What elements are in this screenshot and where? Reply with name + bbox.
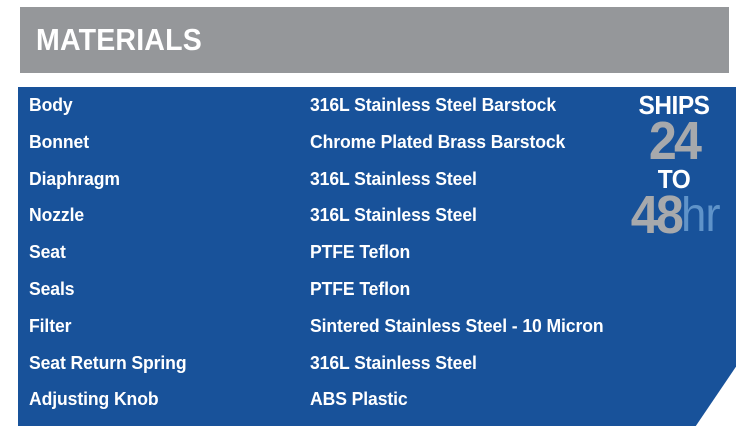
material-value-label: ABS Plastic (310, 381, 408, 418)
material-component-label: Diaphragm (29, 161, 120, 198)
material-value-label: 316L Stainless Steel (310, 161, 477, 198)
material-component-label: Seat Return Spring (29, 345, 186, 382)
page-title: MATERIALS (36, 17, 202, 63)
table-row: SealsPTFE Teflon (18, 271, 736, 308)
material-component-label: Body (29, 87, 73, 124)
table-row: Diaphragm316L Stainless Steel (18, 161, 736, 198)
material-component-label: Filter (29, 308, 71, 345)
table-row: Body316L Stainless Steel Barstock (18, 87, 736, 124)
material-component-label: Nozzle (29, 197, 84, 234)
table-row: Nozzle316L Stainless Steel (18, 197, 736, 234)
material-value-label: 316L Stainless Steel (310, 345, 477, 382)
table-row: Seat Return Spring316L Stainless Steel (18, 345, 736, 382)
table-row: SeatPTFE Teflon (18, 234, 736, 271)
table-row: Adjusting KnobABS Plastic (18, 381, 736, 418)
material-value-label: Chrome Plated Brass Barstock (310, 124, 565, 161)
material-component-label: Adjusting Knob (29, 381, 158, 418)
material-value-label: 316L Stainless Steel Barstock (310, 87, 556, 124)
material-value-label: 316L Stainless Steel (310, 197, 477, 234)
materials-table: Body316L Stainless Steel BarstockBonnetC… (18, 87, 736, 418)
materials-panel: Body316L Stainless Steel BarstockBonnetC… (18, 87, 736, 426)
material-value-label: Sintered Stainless Steel - 10 Micron (310, 308, 604, 345)
material-component-label: Seat (29, 234, 66, 271)
material-value-label: PTFE Teflon (310, 271, 410, 308)
material-component-label: Seals (29, 271, 74, 308)
material-component-label: Bonnet (29, 124, 89, 161)
material-value-label: PTFE Teflon (310, 234, 410, 271)
materials-header-bar: MATERIALS (20, 7, 729, 73)
table-row: BonnetChrome Plated Brass Barstock (18, 124, 736, 161)
table-row: FilterSintered Stainless Steel - 10 Micr… (18, 308, 736, 345)
